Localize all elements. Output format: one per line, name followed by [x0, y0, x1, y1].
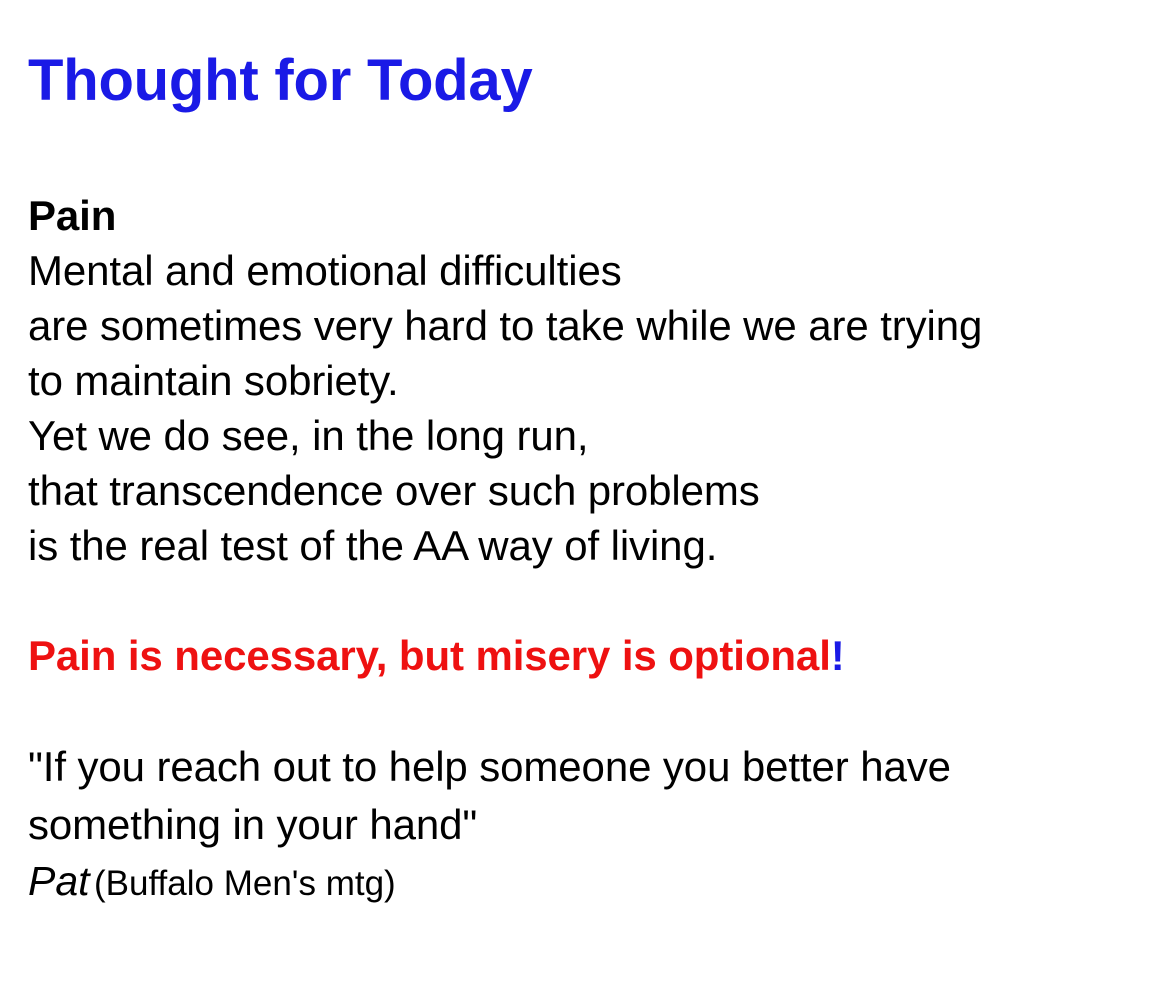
reading-line: is the real test of the AA way of living…	[28, 518, 1148, 573]
paragraph-spacer	[28, 683, 1148, 738]
reading-line: Mental and emotional difficulties	[28, 243, 1148, 298]
quote-attribution: Pat (Buffalo Men's mtg)	[28, 854, 1148, 918]
emphasis-exclamation-mark: !	[831, 632, 845, 679]
reading-line: that transcendence over such problems	[28, 463, 1148, 518]
slide-canvas: Thought for Today Pain Mental and emotio…	[0, 0, 1170, 997]
emphasis-statement-text: Pain is necessary, but misery is optiona…	[28, 632, 831, 679]
page-title: Thought for Today	[28, 52, 533, 110]
emphasis-statement: Pain is necessary, but misery is optiona…	[28, 628, 1148, 683]
reading-line: are sometimes very hard to take while we…	[28, 298, 1148, 353]
paragraph-spacer	[28, 573, 1148, 628]
attribution-name: Pat	[28, 858, 90, 904]
quote-line: something in your hand"	[28, 796, 1148, 854]
quote-line: "If you reach out to help someone you be…	[28, 738, 1148, 796]
reading-line: Yet we do see, in the long run,	[28, 408, 1148, 463]
reading-line: to maintain sobriety.	[28, 353, 1148, 408]
reading-heading: Pain	[28, 188, 1148, 243]
attribution-source: (Buffalo Men's mtg)	[94, 864, 396, 903]
slide-body: Pain Mental and emotional difficulties a…	[28, 188, 1148, 918]
